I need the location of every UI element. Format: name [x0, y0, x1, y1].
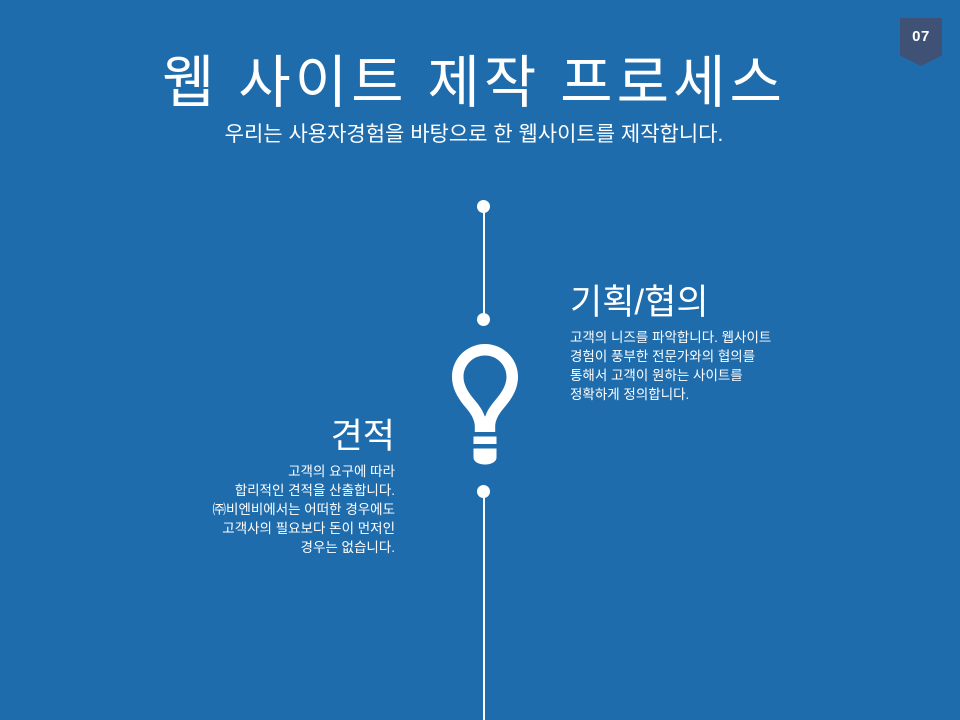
step-estimate-heading: 견적	[213, 417, 395, 456]
timeline-dot-top	[477, 200, 490, 213]
step-planning-body-line: 정확하게 정의합니다.	[570, 385, 771, 404]
step-planning: 기획/협의 고객의 니즈를 파악합니다. 웹사이트 경험이 풍부한 전문가와의 …	[570, 283, 771, 404]
page-subtitle: 우리는 사용자경험을 바탕으로 한 웹사이트를 제작합니다.	[0, 122, 960, 147]
step-estimate: 견적 고객의 요구에 따라 합리적인 견적을 산출합니다. ㈜비엔비에서는 어떠…	[213, 417, 395, 557]
slide-canvas: 07 웹 사이트 제작 프로세스 우리는 사용자경험을 바탕으로 한 웹사이트를…	[0, 0, 960, 720]
page-title: 웹 사이트 제작 프로세스	[0, 54, 960, 114]
timeline-line-upper	[483, 208, 485, 320]
page-number-label: 07	[912, 29, 930, 44]
timeline-dot-middle	[477, 313, 490, 326]
step-estimate-body-line: 합리적인 견적을 산출합니다.	[213, 481, 395, 500]
timeline-dot-bottom	[477, 485, 490, 498]
step-planning-body-line: 통해서 고객이 원하는 사이트를	[570, 366, 771, 385]
step-estimate-body-line: 경우는 없습니다.	[213, 538, 395, 557]
step-planning-heading: 기획/협의	[570, 283, 771, 322]
step-estimate-body-line: 고객사의 필요보다 돈이 먼저인	[213, 519, 395, 538]
step-planning-body-line: 경험이 풍부한 전문가와의 협의를	[570, 347, 771, 366]
lightbulb-icon	[452, 340, 518, 466]
step-planning-body: 고객의 니즈를 파악합니다. 웹사이트 경험이 풍부한 전문가와의 협의를 통해…	[570, 328, 771, 404]
slide-header: 웹 사이트 제작 프로세스 우리는 사용자경험을 바탕으로 한 웹사이트를 제작…	[0, 54, 960, 147]
step-estimate-body-line: 고객의 요구에 따라	[213, 462, 395, 481]
step-estimate-body-line: ㈜비엔비에서는 어떠한 경우에도	[213, 500, 395, 519]
step-estimate-body: 고객의 요구에 따라 합리적인 견적을 산출합니다. ㈜비엔비에서는 어떠한 경…	[213, 462, 395, 557]
step-planning-body-line: 고객의 니즈를 파악합니다. 웹사이트	[570, 328, 771, 347]
timeline-line-lower	[483, 492, 485, 720]
